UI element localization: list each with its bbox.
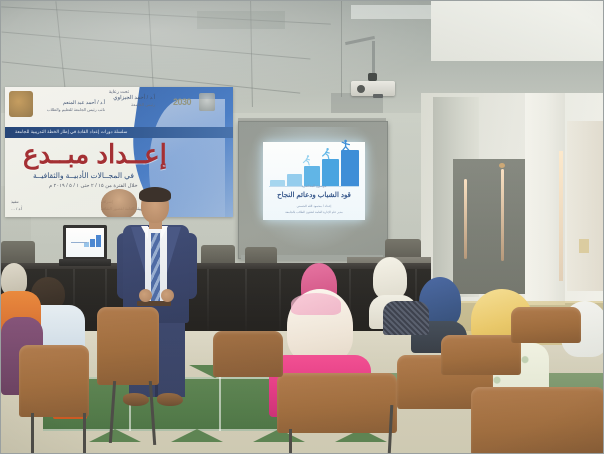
wall-plate xyxy=(579,239,589,253)
auditorium-seat[interactable] xyxy=(471,387,604,454)
auditorium-seat[interactable] xyxy=(441,335,521,375)
climbing-figure-icon xyxy=(301,154,313,166)
door-light-strip-icon xyxy=(501,169,504,261)
door-light-strip-icon xyxy=(464,179,467,259)
slide-presenter-line: إعداد / محمود الله الحسني xyxy=(263,204,365,208)
vision-2030-logo: 2030 xyxy=(173,97,191,107)
banner-logo-right xyxy=(199,93,215,111)
presenter-shoe-left xyxy=(123,393,149,406)
banner-bar-text: سلسلة دورات إعداد القادة في إطار الخطة ا… xyxy=(15,129,127,135)
chart-bar xyxy=(341,150,359,186)
presenter-collar-left xyxy=(141,226,148,239)
chart-bar xyxy=(322,159,339,186)
banner-patron-2-name: أ.د / أحمد عبد المنعم xyxy=(63,100,105,106)
slide-org-line: مدير عام الإدارة العامة لشئون الطلاب بال… xyxy=(263,210,365,214)
attendee-patterned-dark xyxy=(383,301,429,335)
far-right-light-strip-icon xyxy=(559,151,563,281)
laptop-screen-text-line xyxy=(71,242,87,243)
attendee-hijab-band xyxy=(291,293,341,315)
projector-lens-icon xyxy=(357,85,365,93)
projector-bracket xyxy=(373,94,383,98)
banner-footer-left-2: أ.د / … xyxy=(11,206,22,211)
auditorium-seat[interactable] xyxy=(97,307,159,385)
door-fixture xyxy=(499,163,505,168)
presentation-slide: موضوع المحاضرة قود الشباب ودعائم النجاح … xyxy=(263,142,365,220)
banner-patron-1-name: أ.د / أحمد الجيزاوي xyxy=(113,95,155,101)
chair-leg xyxy=(289,429,292,454)
slide-bar-chart xyxy=(269,150,359,186)
attendee-white-hijab xyxy=(373,257,407,299)
chair-leg xyxy=(31,413,34,454)
banner-headline: إعــداد مبــدع xyxy=(23,139,167,170)
conference-photo: 2030 تحت رعاية أ.د / أحمد الجيزاوي رئيس … xyxy=(0,0,604,454)
presenter-hair xyxy=(139,187,171,202)
floor-diamond xyxy=(171,429,223,442)
auditorium-seat[interactable] xyxy=(277,373,397,433)
projector-mount-knuckle xyxy=(368,73,377,81)
auditorium-seat[interactable] xyxy=(19,345,89,417)
auditorium-seat[interactable] xyxy=(213,331,283,377)
laptop-icon[interactable] xyxy=(63,225,107,260)
banner-patron-1-role: رئيس الجامعة xyxy=(131,102,155,107)
slide-title: قود الشباب ودعائم النجاح xyxy=(263,191,365,199)
laptop-base xyxy=(59,259,111,266)
floor-diamond xyxy=(89,429,141,442)
presenter-collar-right xyxy=(161,226,168,239)
banner-subtitle: في المجــالات الأدبيــة والثقافيــة xyxy=(33,171,134,180)
presenter-necktie xyxy=(151,233,160,305)
standing-figure-icon xyxy=(339,139,353,153)
climbing-figure-icon xyxy=(320,147,333,160)
banner-footer-left-1: تنفيذ xyxy=(11,199,19,204)
projector-mount-pipe xyxy=(372,41,375,77)
presenter-shoe-right xyxy=(157,393,183,406)
chair-leg xyxy=(83,413,86,454)
laptop-screen xyxy=(66,228,104,257)
banner-patron-2-role: نائب رئيس الجامعة للتعليم والطلاب xyxy=(47,107,105,112)
presenter-lapel-right xyxy=(167,227,181,273)
auditorium-seat[interactable] xyxy=(511,307,581,343)
presenter-hand-left xyxy=(139,289,152,302)
banner-logo-left xyxy=(9,91,33,117)
far-right-door[interactable] xyxy=(567,121,604,291)
presenter-hand-right xyxy=(161,289,174,302)
slide-eyebrow: موضوع المحاضرة xyxy=(263,184,365,188)
